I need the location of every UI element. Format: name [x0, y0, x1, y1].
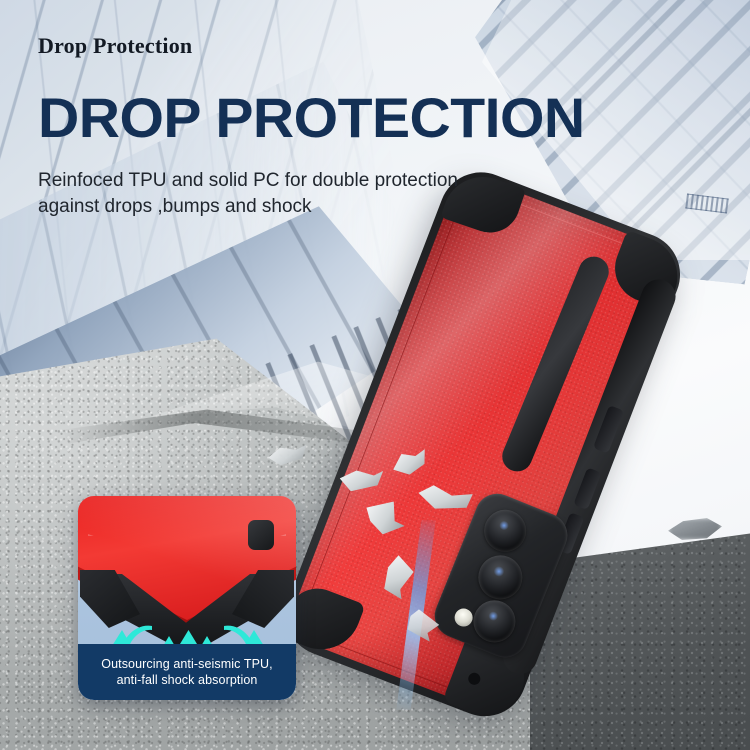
banner-canvas: Outsourcing anti-seismic TPU, anti-fall … — [0, 0, 750, 750]
eyebrow-title: Drop Protection — [38, 33, 192, 59]
page-title: DROP PROTECTION — [38, 85, 585, 150]
camera-flash-icon — [452, 606, 475, 629]
subtitle-line-1: Reinfoced TPU and solid PC for double pr… — [38, 168, 458, 194]
subtitle-block: Reinfoced TPU and solid PC for double pr… — [38, 168, 458, 220]
callout-button-nub — [248, 520, 274, 550]
camera-lens-1 — [478, 503, 533, 558]
camera-lens-3 — [467, 594, 522, 649]
subtitle-line-2: against drops ,bumps and shock — [38, 194, 458, 220]
callout-caption-bar: Outsourcing anti-seismic TPU, anti-fall … — [78, 644, 296, 700]
callout-caption-line-2: anti-fall shock absorption — [117, 672, 258, 688]
callout-caption-line-1: Outsourcing anti-seismic TPU, — [101, 656, 272, 672]
camera-lens-2 — [472, 549, 529, 606]
feature-callout-card: Outsourcing anti-seismic TPU, anti-fall … — [78, 496, 296, 700]
